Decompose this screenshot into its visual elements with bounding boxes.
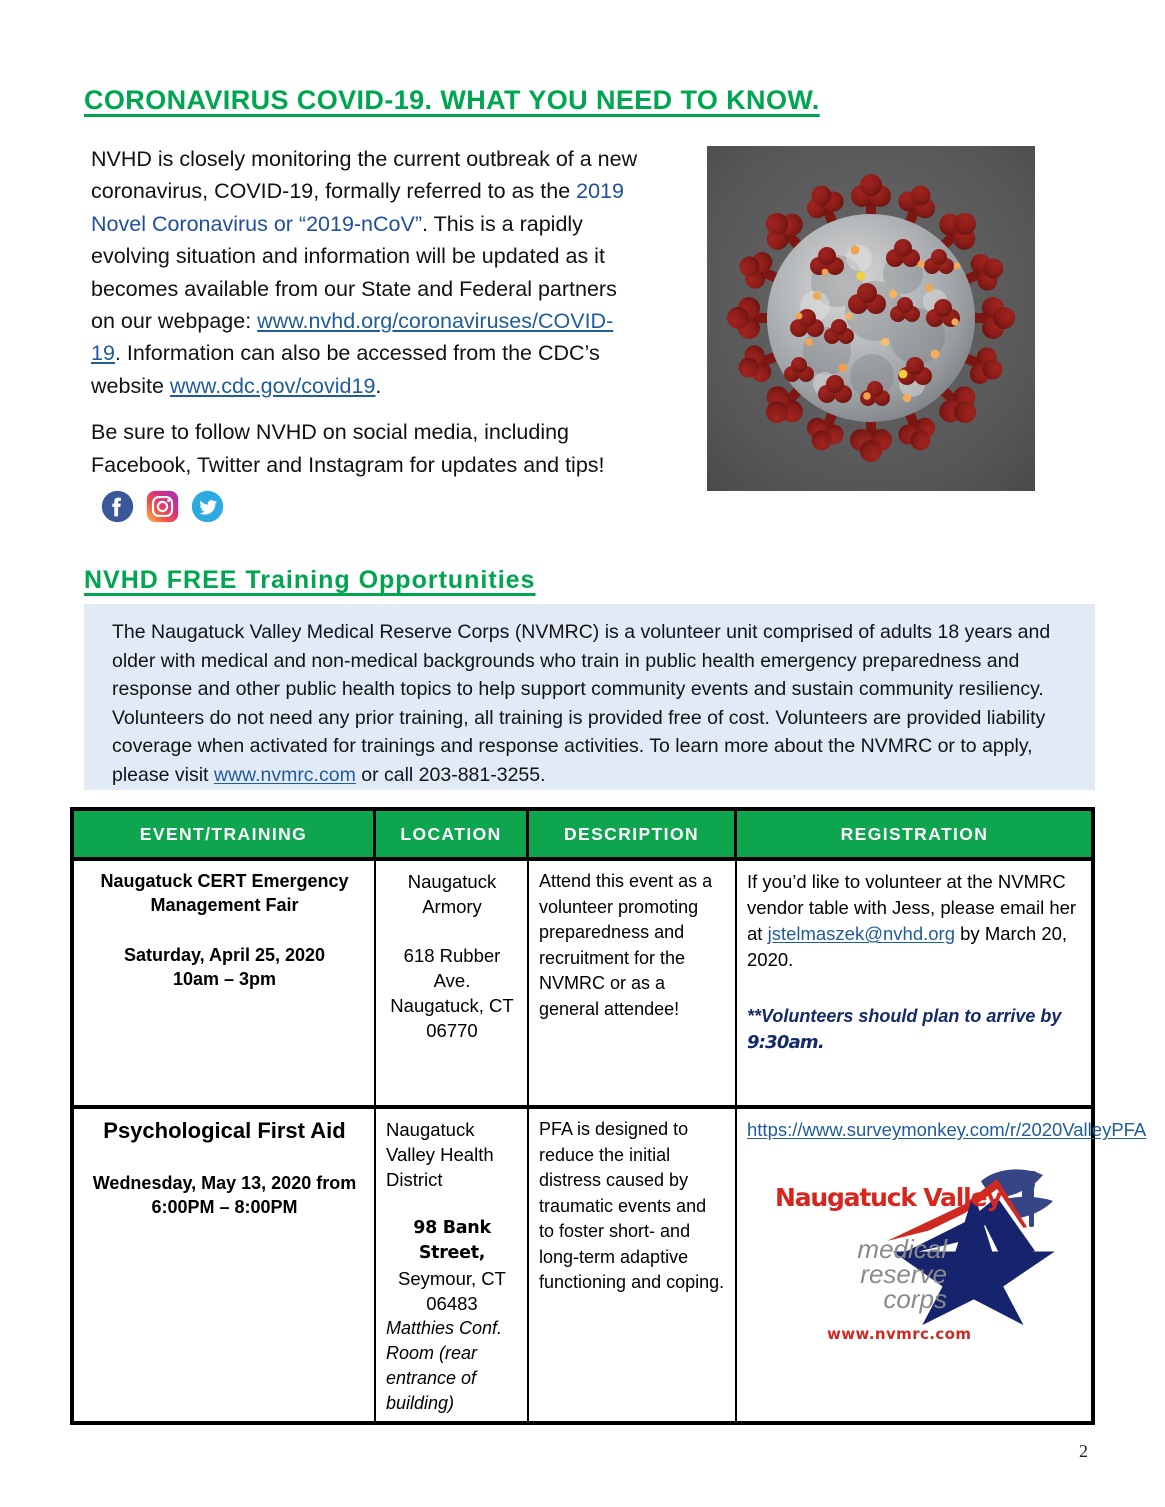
cell-description-1: Attend this event as a volunteer promoti… bbox=[529, 861, 737, 1105]
event-title-2: Psychological First Aid bbox=[84, 1117, 365, 1145]
location-city-1: Naugatuck, CT bbox=[386, 993, 518, 1018]
section-title-training: NVHD FREE Training Opportunities bbox=[84, 566, 535, 595]
event-date-1: Saturday, April 25, 2020 bbox=[84, 943, 365, 967]
cell-registration-2: https://www.surveymonkey.com/r/2020Valle… bbox=[737, 1109, 1092, 1421]
coronavirus-illustration bbox=[707, 146, 1035, 491]
event-date-2: Wednesday, May 13, 2020 from bbox=[84, 1171, 365, 1195]
surveymonkey-registration-link[interactable]: https://www.surveymonkey.com/r/2020Valle… bbox=[747, 1119, 1146, 1140]
event-time-2: 6:00PM – 8:00PM bbox=[84, 1195, 365, 1219]
nvmrc-info-part1: The Naugatuck Valley Medical Reserve Cor… bbox=[112, 621, 1050, 786]
registration-text-2: https://www.surveymonkey.com/r/2020Valle… bbox=[747, 1117, 1083, 1143]
cell-description-2: PFA is designed to reduce the initial di… bbox=[529, 1109, 737, 1421]
location-name-1: Naugatuck Armory bbox=[386, 869, 518, 919]
event-time-1: 10am – 3pm bbox=[84, 967, 365, 991]
cell-location-2: Naugatuck Valley Health District 98 Bank… bbox=[376, 1109, 529, 1421]
column-header-description: DESCRIPTION bbox=[529, 811, 737, 857]
column-header-location: LOCATION bbox=[376, 811, 529, 857]
location-extra-2: Matthies Conf. Room (rear entrance of bu… bbox=[386, 1316, 518, 1416]
location-city-2: Seymour, CT bbox=[386, 1266, 518, 1291]
registration-note-text: **Volunteers should plan to arrive by bbox=[747, 1006, 1061, 1026]
location-zip-2: 06483 bbox=[386, 1291, 518, 1316]
cell-event-1: Naugatuck CERT Emergency Management Fair… bbox=[74, 861, 376, 1105]
table-row: Psychological First Aid Wednesday, May 1… bbox=[74, 1105, 1091, 1421]
registration-text-1: If you’d like to volunteer at the NVMRC … bbox=[747, 869, 1083, 973]
table-row: Naugatuck CERT Emergency Management Fair… bbox=[74, 857, 1091, 1105]
intro-paragraph-2: Be sure to follow NVHD on social media, … bbox=[91, 416, 643, 523]
column-header-event: EVENT/TRAINING bbox=[74, 811, 376, 857]
location-name-2: Naugatuck Valley Health District bbox=[386, 1117, 518, 1192]
intro-p1-part4: . bbox=[375, 374, 381, 398]
instagram-icon[interactable] bbox=[146, 490, 179, 523]
intro-text-block: NVHD is closely monitoring the current o… bbox=[91, 143, 643, 537]
nvmrc-logo-url: www.nvmrc.com bbox=[827, 1325, 971, 1343]
description-text-1: Attend this event as a volunteer promoti… bbox=[539, 869, 726, 1022]
cell-event-2: Psychological First Aid Wednesday, May 1… bbox=[74, 1109, 376, 1421]
column-header-registration: REGISTRATION bbox=[737, 811, 1092, 857]
nvmrc-logo: Naugatuck Valley medical reserve corps w… bbox=[767, 1165, 1067, 1350]
registration-note-1: **Volunteers should plan to arrive by 9:… bbox=[747, 1003, 1083, 1056]
page-title: CORONAVIRUS COVID-19. WHAT YOU NEED TO K… bbox=[84, 85, 820, 116]
newsletter-page: CORONAVIRUS COVID-19. WHAT YOU NEED TO K… bbox=[0, 0, 1165, 1507]
nvmrc-info-box: The Naugatuck Valley Medical Reserve Cor… bbox=[84, 604, 1095, 790]
page-number: 2 bbox=[1079, 1441, 1088, 1462]
location-zip-1: 06770 bbox=[386, 1018, 518, 1043]
cell-registration-1: If you’d like to volunteer at the NVMRC … bbox=[737, 861, 1092, 1105]
nvmrc-logo-wordmark: medical reserve corps bbox=[807, 1237, 947, 1312]
registration-email-link[interactable]: jstelmaszek@nvhd.org bbox=[768, 923, 955, 944]
table-header-row: EVENT/TRAINING LOCATION DESCRIPTION REGI… bbox=[74, 811, 1091, 857]
intro-p1-part1: NVHD is closely monitoring the current o… bbox=[91, 147, 637, 203]
location-street-1: 618 Rubber Ave. bbox=[386, 943, 518, 993]
nvmrc-website-link[interactable]: www.nvmrc.com bbox=[214, 764, 356, 786]
social-media-text: Be sure to follow NVHD on social media, … bbox=[91, 420, 605, 476]
social-icon-row bbox=[101, 489, 230, 523]
location-street-2: 98 Bank Street, bbox=[386, 1216, 518, 1266]
cdc-covid19-link[interactable]: www.cdc.gov/covid19 bbox=[170, 374, 376, 398]
event-title-1: Naugatuck CERT Emergency Management Fair bbox=[84, 869, 365, 917]
nvmrc-logo-line1: Naugatuck Valley bbox=[775, 1183, 1001, 1212]
nvmrc-logo-line4: corps bbox=[807, 1287, 947, 1312]
registration-note-time: 9:30am. bbox=[747, 1032, 824, 1053]
nvmrc-info-part2: or call 203-881-3255. bbox=[356, 764, 546, 786]
twitter-icon[interactable] bbox=[191, 490, 224, 523]
nvmrc-info-text: The Naugatuck Valley Medical Reserve Cor… bbox=[84, 604, 1095, 789]
trainings-table: EVENT/TRAINING LOCATION DESCRIPTION REGI… bbox=[70, 807, 1095, 1425]
intro-paragraph-1: NVHD is closely monitoring the current o… bbox=[91, 143, 643, 402]
cell-location-1: Naugatuck Armory 618 Rubber Ave. Naugatu… bbox=[376, 861, 529, 1105]
facebook-icon[interactable] bbox=[101, 490, 134, 523]
description-text-2: PFA is designed to reduce the initial di… bbox=[539, 1117, 726, 1296]
